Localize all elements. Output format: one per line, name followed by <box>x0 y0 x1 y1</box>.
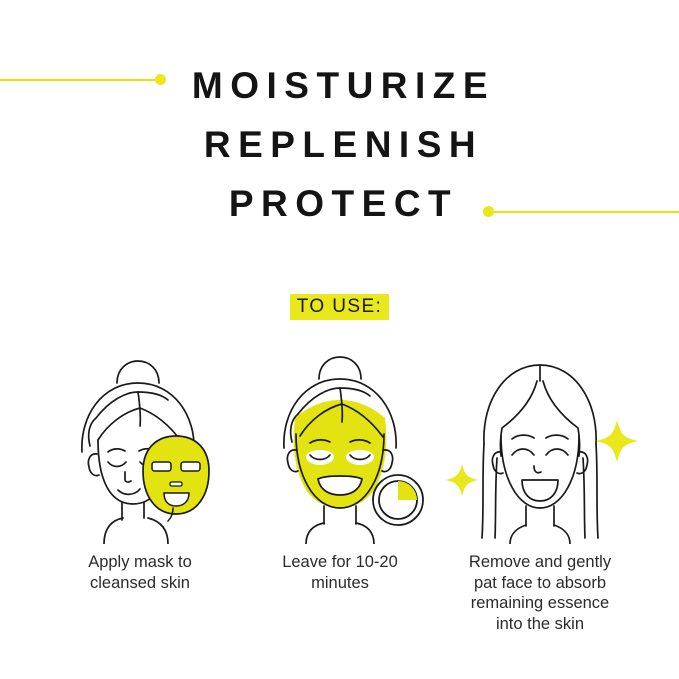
woman-holding-sheet-mask-illustration <box>40 348 240 544</box>
headline-line-replenish: REPLENISH <box>0 115 679 174</box>
woman-glowing-skin-with-sparkles-illustration <box>440 348 640 544</box>
sparkle-icon-left <box>446 464 478 496</box>
instruction-graphic: MOISTURIZE REPLENISH PROTECT TO USE: <box>0 0 679 679</box>
step-item-leave-on: Leave for 10-20 minutes <box>240 348 440 594</box>
step-caption: Remove and gently pat face to absorb rem… <box>469 552 611 634</box>
step-item-apply-mask: Apply mask to cleansed skin <box>40 348 240 594</box>
to-use-heading: TO USE: <box>0 294 679 320</box>
woman-wearing-sheet-mask-with-timer-illustration <box>240 348 440 544</box>
steps-row: Apply mask to cleansed skin <box>0 348 679 634</box>
step-item-remove-and-pat: Remove and gently pat face to absorb rem… <box>440 348 640 634</box>
headline-line-moisturize: MOISTURIZE <box>0 56 679 115</box>
sparkle-icon-right <box>596 420 638 462</box>
sheet-mask-shape <box>143 436 209 521</box>
step-caption: Apply mask to cleansed skin <box>88 552 192 594</box>
step-caption: Leave for 10-20 minutes <box>282 552 398 594</box>
headline-block: MOISTURIZE REPLENISH PROTECT <box>0 56 679 233</box>
timer-icon <box>373 475 423 525</box>
to-use-label: TO USE: <box>290 294 389 320</box>
headline-line-protect: PROTECT <box>0 174 679 233</box>
